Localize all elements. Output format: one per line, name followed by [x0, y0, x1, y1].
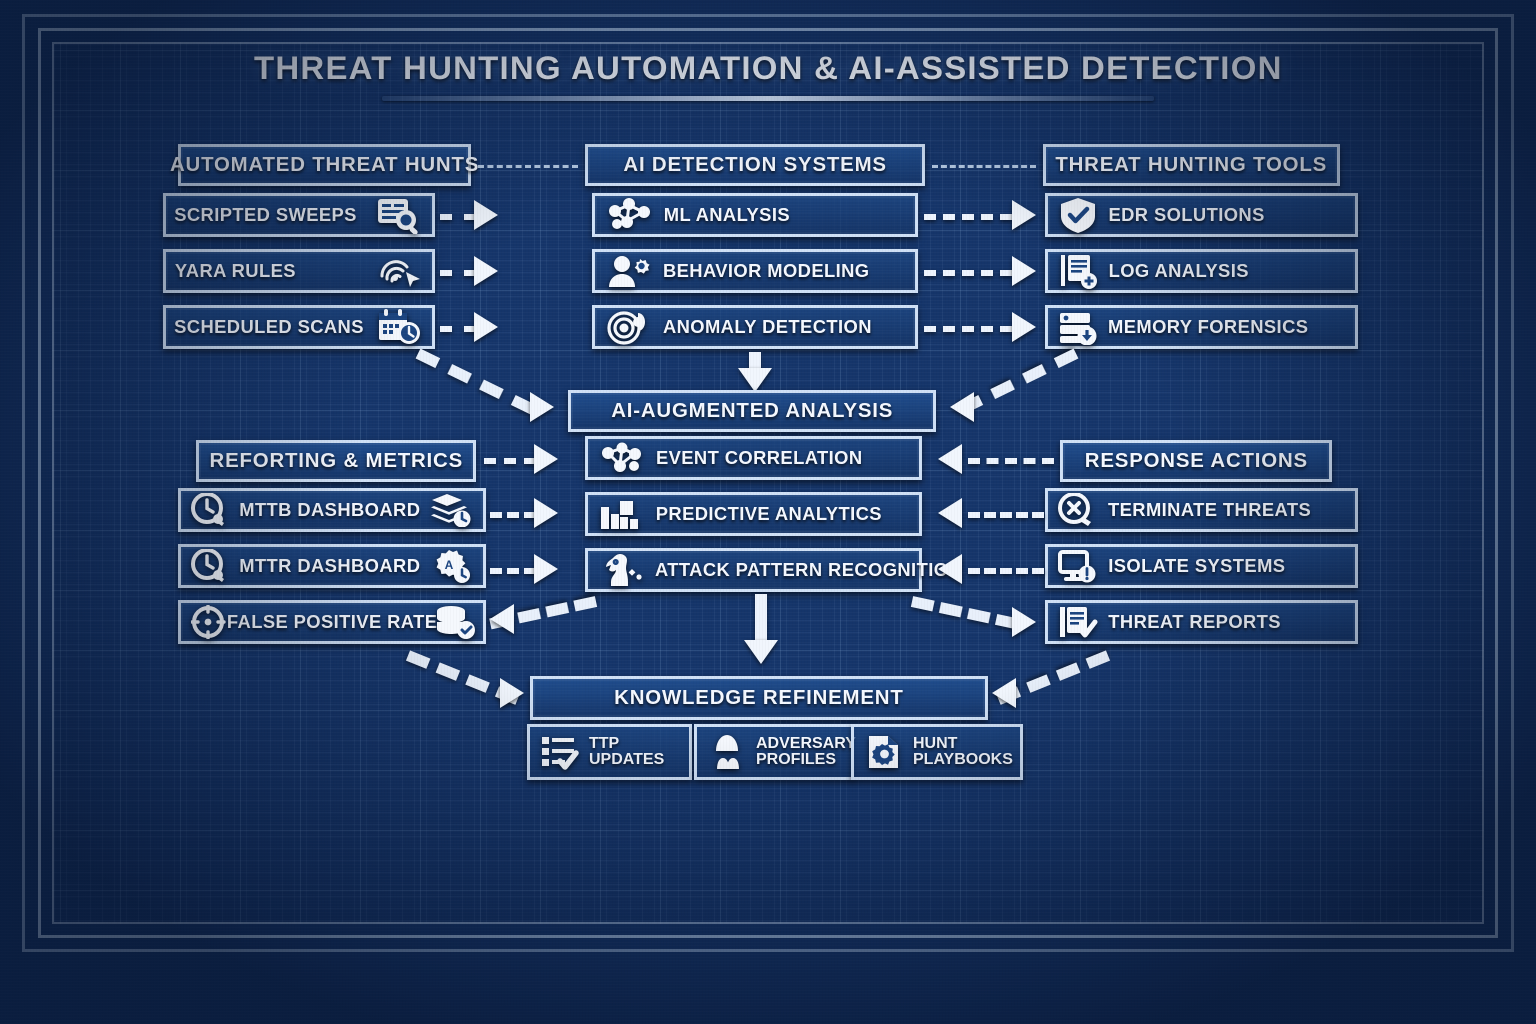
arrow-attack-knowledge-head [744, 640, 778, 664]
item-label: SCHEDULED SCANS [174, 317, 364, 338]
header-threat-hunting-tools[interactable]: THREAT HUNTING TOOLS [1043, 144, 1340, 186]
report-check-icon [1058, 605, 1098, 639]
item-memory-forensics[interactable]: MEMORY FORENSICS [1045, 305, 1358, 349]
arrow-isolate-attack-line [968, 568, 1044, 574]
hooded-figures-icon [707, 734, 747, 770]
arrow-anomaly-memory-line [924, 326, 1012, 332]
arrow-terminate-predictive-head [938, 498, 962, 528]
arrow-behavior-log-head [1012, 256, 1036, 286]
arrow-ml-edr-line [924, 214, 1012, 220]
header-label: KNOWLEDGE REFINEMENT [614, 687, 903, 710]
arrow-fpr-knowledge-head [500, 678, 524, 708]
item-label: PREDICTIVE ANALYTICS [656, 504, 882, 525]
arrow-reporting-event-head [534, 444, 558, 474]
chip-adversary-profiles[interactable]: ADVERSARY PROFILES [694, 724, 854, 780]
memory-chip-download-icon [1058, 309, 1098, 345]
item-label: ATTACK PATTERN RECOGNITION [655, 560, 962, 581]
page-title: THREAT HUNTING AUTOMATION & AI-ASSISTED … [0, 50, 1536, 87]
item-yara-rules[interactable]: YARA RULES [163, 249, 435, 293]
item-behavior-modeling[interactable]: BEHAVIOR MODELING [592, 249, 918, 293]
item-anomaly-detection[interactable]: ANOMALY DETECTION [592, 305, 918, 349]
circle-x-search-icon [1058, 493, 1098, 527]
item-log-analysis[interactable]: LOG ANALYSIS [1045, 249, 1358, 293]
item-event-correlation[interactable]: EVENT CORRELATION [585, 436, 922, 480]
arrow-anomaly-memory-head [1012, 312, 1036, 342]
item-scripted-sweeps[interactable]: SCRIPTED SWEEPS [163, 193, 435, 237]
arrow-yara-behavior-head [474, 256, 498, 286]
user-gear-icon [605, 253, 653, 289]
header-label: RESPONSE ACTIONS [1084, 450, 1307, 473]
chip-label: ADVERSARY PROFILES [756, 736, 856, 769]
layers-clock-icon [431, 493, 473, 527]
arrow-terminate-predictive-line [968, 512, 1044, 518]
header-reporting-metrics[interactable]: REFORTING & METRICS [196, 440, 476, 482]
chip-label: HUNT PLAYBOOKS [913, 736, 1013, 769]
arrow-reports-knowledge-head [992, 678, 1016, 708]
arrow-scans-anomaly-line [440, 326, 476, 332]
item-label: MTTR DASHBOARD [239, 556, 420, 577]
document-search-icon [376, 196, 422, 234]
gear-a-clock-icon: A [431, 549, 473, 583]
arrow-attack-knowledge-line [755, 594, 767, 642]
playbook-gear-icon [864, 734, 904, 770]
arrow-mttb-predictive-line [490, 512, 536, 518]
neural-network-icon [605, 197, 653, 233]
item-mttr-dashboard[interactable]: MTTR DASHBOARD A [178, 544, 486, 588]
chip-ttp-updates[interactable]: TTP UPDATES [527, 724, 692, 780]
header-response-actions[interactable]: RESPONSE ACTIONS [1060, 440, 1332, 482]
item-threat-reports[interactable]: THREAT REPORTS [1045, 600, 1358, 644]
header-label: THREAT HUNTING TOOLS [1056, 154, 1328, 177]
item-label: LOG ANALYSIS [1109, 261, 1249, 282]
item-label: ML ANALYSIS [664, 205, 790, 226]
item-label: FALSE POSITIVE RATE [227, 612, 437, 633]
arrow-attack-fpr-head [490, 604, 514, 634]
chess-knight-icon [598, 553, 646, 587]
arrow-reporting-event-line [484, 458, 536, 464]
item-edr-solutions[interactable]: EDR SOLUTIONS [1045, 193, 1358, 237]
item-label: EVENT CORRELATION [656, 448, 863, 469]
header-knowledge-refinement[interactable]: KNOWLEDGE REFINEMENT [530, 676, 988, 720]
item-label: EDR SOLUTIONS [1108, 205, 1264, 226]
item-predictive-analytics[interactable]: PREDICTIVE ANALYTICS [585, 492, 922, 536]
item-mttb-dashboard[interactable]: MTTB DASHBOARD [178, 488, 486, 532]
header-automated-threat-hunts[interactable]: AUTOMATED THREAT HUNTS [178, 144, 471, 186]
arrow-sweeps-ml-head [474, 200, 498, 230]
item-isolate-systems[interactable]: ISOLATE SYSTEMS [1045, 544, 1358, 588]
page-title-text: THREAT HUNTING AUTOMATION & AI-ASSISTED … [254, 50, 1283, 87]
item-label: SCRIPTED SWEEPS [174, 205, 357, 226]
item-scheduled-scans[interactable]: SCHEDULED SCANS [163, 305, 435, 349]
item-label: THREAT REPORTS [1108, 612, 1281, 633]
connector-ai-to-tools [932, 165, 1036, 168]
fingerprint-scan-icon [376, 252, 422, 290]
arrow-yara-behavior-line [440, 270, 476, 276]
target-scan-icon [605, 309, 653, 345]
item-label: ANOMALY DETECTION [663, 317, 872, 338]
clock-search-icon [191, 549, 229, 583]
item-label: TERMINATE THREATS [1108, 500, 1311, 521]
calendar-clock-icon [376, 308, 422, 346]
item-label: MTTB DASHBOARD [239, 500, 420, 521]
item-terminate-threats[interactable]: TERMINATE THREATS [1045, 488, 1358, 532]
arrow-anomaly-aiaug-head [738, 368, 772, 392]
header-ai-augmented-analysis[interactable]: AI-AUGMENTED ANALYSIS [568, 390, 936, 432]
connector-hunts-to-ai [478, 165, 578, 168]
svg-text:A: A [445, 558, 454, 572]
arrow-ml-edr-head [1012, 200, 1036, 230]
arrow-sweeps-ml-line [440, 214, 476, 220]
arrow-memory-aiaug-head [950, 392, 974, 422]
header-label: REFORTING & METRICS [209, 450, 463, 473]
arrow-behavior-log-line [924, 270, 1012, 276]
item-attack-pattern-recognition[interactable]: ATTACK PATTERN RECOGNITION [585, 548, 922, 592]
chip-hunt-playbooks[interactable]: HUNT PLAYBOOKS [851, 724, 1023, 780]
crosshair-icon [191, 605, 229, 639]
log-file-plus-icon [1058, 253, 1098, 289]
arrow-response-event-head [938, 444, 962, 474]
shield-check-icon [1058, 197, 1098, 233]
bar-chart-icon [598, 497, 646, 531]
checklist-icon [540, 734, 580, 770]
database-check-icon [435, 605, 477, 639]
chip-label: TTP UPDATES [589, 736, 664, 769]
item-ml-analysis[interactable]: ML ANALYSIS [592, 193, 918, 237]
monitor-alert-icon [1058, 549, 1098, 583]
item-label: YARA RULES [175, 261, 296, 282]
item-label: MEMORY FORENSICS [1108, 317, 1308, 338]
item-label: ISOLATE SYSTEMS [1108, 556, 1285, 577]
header-ai-detection-systems[interactable]: AI DETECTION SYSTEMS [585, 144, 925, 186]
header-label: AI-AUGMENTED ANALYSIS [611, 400, 893, 423]
blueprint-canvas: THREAT HUNTING AUTOMATION & AI-ASSISTED … [0, 0, 1536, 1024]
header-label: AUTOMATED THREAT HUNTS [170, 154, 479, 177]
network-nodes-icon [598, 441, 646, 475]
arrow-mttr-attack-line [490, 568, 536, 574]
arrow-response-event-line [968, 458, 1054, 464]
item-label: BEHAVIOR MODELING [663, 261, 870, 282]
item-false-positive-rate[interactable]: FALSE POSITIVE RATE [178, 600, 486, 644]
arrow-mttb-predictive-head [534, 498, 558, 528]
clock-search-icon [191, 493, 229, 527]
arrow-mttr-attack-head [534, 554, 558, 584]
arrow-scans-anomaly-head [474, 312, 498, 342]
arrow-attack-reports-head [1012, 607, 1036, 637]
header-label: AI DETECTION SYSTEMS [623, 154, 886, 177]
title-underline [382, 96, 1154, 101]
arrow-isolate-attack-head [938, 554, 962, 584]
arrow-scans-aiaug-head [530, 392, 554, 422]
